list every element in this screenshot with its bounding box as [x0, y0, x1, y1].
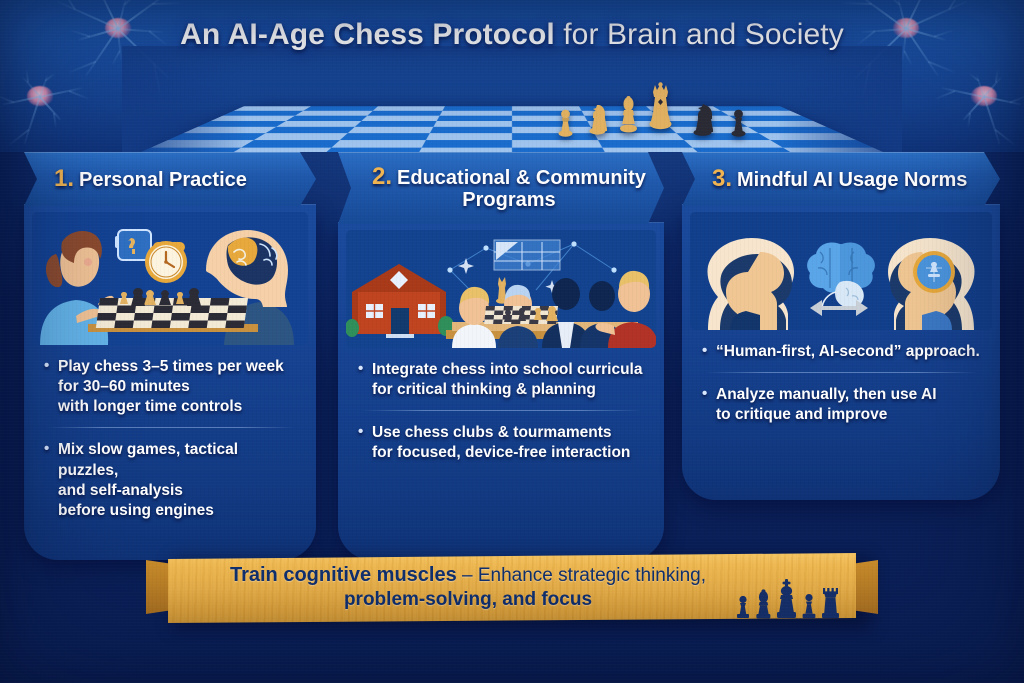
board-square	[758, 133, 856, 140]
column-1-heading-text: Personal Practice	[79, 169, 247, 191]
bullet-line: for focused, device-free interaction	[372, 443, 646, 463]
column-1-number: 1.	[54, 165, 74, 192]
board-square	[512, 140, 602, 148]
banner-text: Train cognitive muscles – Enhance strate…	[208, 563, 728, 612]
board-square	[422, 140, 512, 148]
neuron-dendrite-branch	[935, 90, 955, 99]
column-1-heading: 1.Personal Practice	[54, 166, 247, 192]
bullet-line: “Human-first, AI-second” approach.	[716, 342, 982, 362]
banner-line2: problem-solving, and focus	[208, 588, 728, 612]
page-title-regular: for Brain and Society	[555, 18, 844, 51]
column-2-heading: 2.Educational & Community Programs	[368, 164, 646, 212]
board-square	[151, 140, 254, 148]
chess-piece-black-knight	[692, 102, 713, 136]
column-2-heading-ribbon[interactable]: 2.Educational & Community Programs	[338, 152, 664, 224]
illustration-personal-practice	[32, 212, 308, 345]
column-3-number: 3.	[712, 165, 732, 192]
chess-pawn-icon	[735, 595, 751, 619]
column-2-bullets: Integrate chess into school curricula fo…	[346, 348, 656, 464]
two-players-chess-illustration	[32, 212, 308, 345]
board-square	[684, 140, 783, 148]
board-square	[331, 140, 426, 148]
board-square	[598, 140, 693, 148]
column-2-number: 2.	[372, 163, 392, 190]
neuron-dendrite-branch	[123, 0, 137, 6]
bullet-line: Analyze manually, then use AI	[716, 385, 982, 405]
columns-container: 1.Personal Practice	[0, 152, 1024, 552]
bullet-line: Play chess 3–5 times per week	[58, 357, 298, 377]
column-3-panel: “Human-first, AI-second” approach. Analy…	[682, 204, 1000, 500]
chess-board-perspective	[132, 52, 892, 152]
board-square	[594, 133, 684, 140]
page-title-bold: An AI-Age Chess Protocol	[180, 18, 555, 51]
chess-piece-white-bishop	[619, 96, 638, 134]
banner-lead: Train cognitive muscles	[230, 564, 457, 586]
bullet-item: Integrate chess into school curricula fo…	[358, 360, 646, 400]
neuron-dendrite-branch	[152, 2, 182, 5]
board-square	[254, 133, 348, 140]
bullet-line: for critical thinking & planning	[372, 380, 646, 400]
board-square	[168, 133, 266, 140]
chess-pawn-icon	[801, 593, 817, 619]
board-square	[512, 133, 598, 140]
bullet-item: Mix slow games, tactical puzzles, and se…	[44, 440, 298, 521]
bottom-banner: Train cognitive muscles – Enhance strate…	[0, 548, 1024, 634]
bullet-line: Integrate chess into school curricula	[372, 360, 646, 380]
chess-piece-black-pawn	[730, 108, 747, 138]
chess-piece-white-queen	[648, 82, 673, 132]
banner-rest: – Enhance strategic thinking,	[457, 565, 706, 586]
bullet-line: with longer time controls	[58, 397, 298, 417]
column-3-heading-ribbon[interactable]: 3.Mindful AI Usage Norms	[682, 152, 1000, 206]
column-2-heading-text: Educational & Community	[397, 167, 646, 189]
chess-piece-white-pawn	[557, 108, 574, 138]
column-1-heading-ribbon[interactable]: 1.Personal Practice	[24, 152, 316, 206]
chess-bishop-icon	[755, 589, 772, 619]
neuron-dendrite-branch	[1010, 94, 1024, 103]
chess-piece-white-knight	[587, 102, 607, 136]
bullet-line: Mix slow games, tactical puzzles,	[58, 440, 298, 480]
column-1-panel: Play chess 3–5 times per week for 30–60 …	[24, 204, 316, 560]
column-educational-community-programs: 2.Educational & Community Programs	[338, 152, 664, 560]
bullet-line: for 30–60 minutes	[58, 377, 298, 397]
column-3-heading-text: Mindful AI Usage Norms	[737, 169, 967, 191]
bullet-line: and self-analysis	[58, 481, 298, 501]
bullet-separator	[48, 427, 294, 428]
bullet-item: Play chess 3–5 times per week for 30–60 …	[44, 357, 298, 417]
neuron-dendrite-branch	[69, 90, 89, 99]
column-3-bullets: “Human-first, AI-second” approach. Analy…	[690, 330, 992, 425]
bullet-item: Analyze manually, then use AI to critiqu…	[702, 385, 982, 425]
neuron-dendrite-branch	[841, 2, 871, 5]
neuron-dendrite-branch	[0, 94, 14, 103]
board-square	[241, 140, 340, 148]
board-square	[426, 133, 512, 140]
head-profiles-brain-illustration	[690, 212, 992, 330]
bullet-item: “Human-first, AI-second” approach.	[702, 342, 982, 362]
column-mindful-ai-usage-norms: 3.Mindful AI Usage Norms	[682, 152, 1000, 500]
column-3-heading: 3.Mindful AI Usage Norms	[712, 166, 967, 192]
board-square	[676, 133, 770, 140]
bullet-line: before using engines	[58, 501, 298, 521]
school-chess-club-illustration	[346, 230, 656, 348]
column-2-heading-text-line2: Programs	[372, 190, 646, 212]
column-personal-practice: 1.Personal Practice	[24, 152, 316, 560]
banner-chess-pieces	[735, 579, 840, 619]
bullet-line: Use chess clubs & tourmaments	[372, 423, 646, 443]
infographic-canvas: An AI-Age Chess Protocol for Brain and S…	[0, 0, 1024, 683]
chess-king-icon	[776, 579, 797, 619]
banner-body: Train cognitive muscles – Enhance strate…	[168, 553, 856, 623]
neuron-dendrite-branch	[903, 50, 912, 65]
illustration-educational-community	[346, 230, 656, 348]
column-2-panel: Integrate chess into school curricula fo…	[338, 222, 664, 560]
bullet-separator	[706, 372, 978, 373]
page-title: An AI-Age Chess Protocol for Brain and S…	[0, 18, 1024, 52]
bullet-line: to critique and improve	[716, 405, 982, 425]
bullet-item: Use chess clubs & tourmaments for focuse…	[358, 423, 646, 463]
board-square	[770, 140, 873, 148]
header-banner: An AI-Age Chess Protocol for Brain and S…	[0, 0, 1024, 152]
bullet-separator	[362, 410, 642, 411]
illustration-mindful-ai	[690, 212, 992, 330]
chess-rook-icon	[821, 587, 840, 619]
column-1-bullets: Play chess 3–5 times per week for 30–60 …	[32, 345, 308, 521]
board-square	[340, 133, 430, 140]
